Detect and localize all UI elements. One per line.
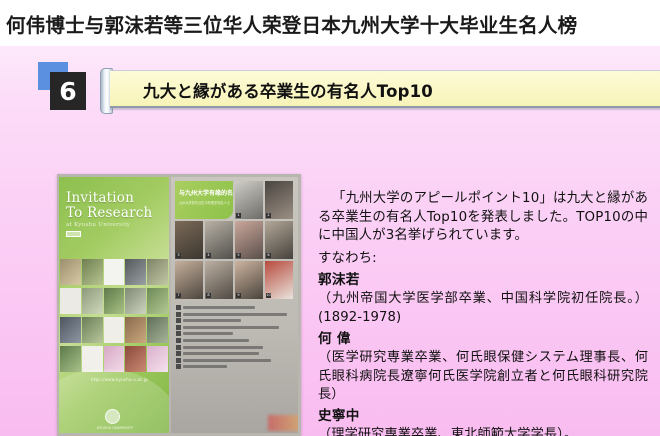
portrait-photo: 4 <box>205 221 233 259</box>
lead-in-text: すなわち: <box>318 250 648 269</box>
slide-body: 6 九大と縁がある卒業生の有名人Top10 Invitation To Rese… <box>0 46 660 436</box>
brochure-url: http://www.kyushu-u.ac.jp <box>91 377 148 382</box>
header-bar: 何伟博士与郭沫若等三位华人荣登日本九州大学十大毕业生名人榜 <box>0 0 660 46</box>
intro-paragraph: 「九州大学のアピールポイント10」は九大と縁がある卒業生の有名人Top10を発表… <box>318 190 648 246</box>
portrait-photo: 8 <box>205 261 233 299</box>
person-description: （医学研究専業卒業、何氏眼保健システム理事長、何氏眼科病院長遼寧何氏医学院創立者… <box>318 349 648 404</box>
brochure-title: Invitation To Research <box>66 191 152 221</box>
brochure-photo: Invitation To Research at Kyushu Univers… <box>57 174 301 436</box>
portrait-number: 1 <box>236 213 241 218</box>
bullet-icon <box>176 331 181 336</box>
portrait-number: 8 <box>206 293 211 298</box>
caption-item <box>176 358 294 363</box>
slide-canvas: 何伟博士与郭沫若等三位华人荣登日本九州大学十大毕业生名人榜 6 九大と縁がある卒… <box>0 0 660 436</box>
portrait-number: 10 <box>266 293 271 298</box>
portrait-photo: 3 <box>175 221 203 259</box>
university-logo-icon <box>105 409 120 424</box>
campus-photo-strip <box>60 259 168 285</box>
grid-headline-title: 与九州大学有缘的名人 <box>179 188 233 197</box>
person-name: 史寧中 <box>318 407 648 426</box>
bullet-icon <box>176 345 181 350</box>
bullet-icon <box>176 312 181 317</box>
bullet-icon <box>176 325 181 330</box>
portrait-photo: 2 <box>265 181 293 219</box>
person-name: 何 偉 <box>318 330 648 349</box>
portrait-photo: 1 <box>235 181 263 219</box>
grid-headline-box: 与九州大学有缘的名人 九州大学的毕业生中有很多知名人士 <box>175 181 233 219</box>
portrait-number: 4 <box>206 253 211 258</box>
portrait-photo: 6 <box>265 221 293 259</box>
famous-people-grid: 与九州大学有缘的名人 九州大学的毕业生中有很多知名人士 1 2 3 4 5 6 … <box>175 181 293 299</box>
portrait-photo: 7 <box>175 261 203 299</box>
portrait-number: 3 <box>176 253 181 258</box>
portrait-photo: 5 <box>235 221 263 259</box>
brochure-title-line1: Invitation <box>66 190 134 206</box>
bullet-icon <box>176 351 181 356</box>
photo-glare <box>268 415 298 431</box>
brochure-tag <box>66 231 81 237</box>
description-text-block: 「九州大学のアピールポイント10」は九大と縁がある卒業生の有名人Top10を発表… <box>318 190 648 436</box>
caption-list <box>176 305 294 371</box>
person-description: （九州帝国大学医学部卒業、中国科学院初任院長。）(1892-1978) <box>318 290 648 327</box>
bullet-icon <box>176 338 181 343</box>
brochure-title-line2: To Research <box>66 205 152 221</box>
badge-number-label: 6 <box>50 72 86 110</box>
caption-item <box>176 364 294 369</box>
person-description: （理学研究専業卒業、東北師範大学学長）。 <box>318 426 648 436</box>
brochure-subtitle: at Kyushu University <box>66 222 130 228</box>
banner-title: 九大と縁がある卒業生の有名人Top10 <box>143 78 433 102</box>
campus-photo-strip <box>60 346 168 372</box>
caption-item <box>176 318 294 323</box>
caption-item <box>176 331 294 336</box>
bullet-icon <box>176 318 181 323</box>
brochure-right-page: 与九州大学有缘的名人 九州大学的毕业生中有很多知名人士 1 2 3 4 5 6 … <box>171 177 298 433</box>
page-title: 何伟博士与郭沫若等三位华人荣登日本九州大学十大毕业生名人榜 <box>6 9 577 38</box>
caption-item <box>176 312 294 317</box>
portrait-number: 9 <box>236 293 241 298</box>
caption-item <box>176 351 294 356</box>
portrait-number: 5 <box>236 253 241 258</box>
portrait-number: 6 <box>266 253 271 258</box>
grid-headline-subtitle: 九州大学的毕业生中有很多知名人士 <box>179 200 230 205</box>
caption-item <box>176 345 294 350</box>
brochure-logo-text: KYUSHU UNIVERSITY <box>97 426 133 430</box>
bullet-icon <box>176 305 181 310</box>
portrait-photo: 10 <box>265 261 293 299</box>
portrait-number: 7 <box>176 293 181 298</box>
brochure-left-page: Invitation To Research at Kyushu Univers… <box>59 177 169 433</box>
caption-item <box>176 325 294 330</box>
caption-item <box>176 338 294 343</box>
bullet-icon <box>176 358 181 363</box>
caption-item <box>176 305 294 310</box>
section-banner: 九大と縁がある卒業生の有名人Top10 <box>100 68 660 110</box>
portrait-photo: 9 <box>235 261 263 299</box>
portrait-number: 2 <box>266 213 271 218</box>
campus-photo-strip <box>60 317 168 343</box>
bullet-icon <box>176 364 181 369</box>
person-name: 郭沫若 <box>318 271 648 290</box>
campus-photo-strip <box>60 288 168 314</box>
section-number-badge: 6 <box>38 62 92 114</box>
